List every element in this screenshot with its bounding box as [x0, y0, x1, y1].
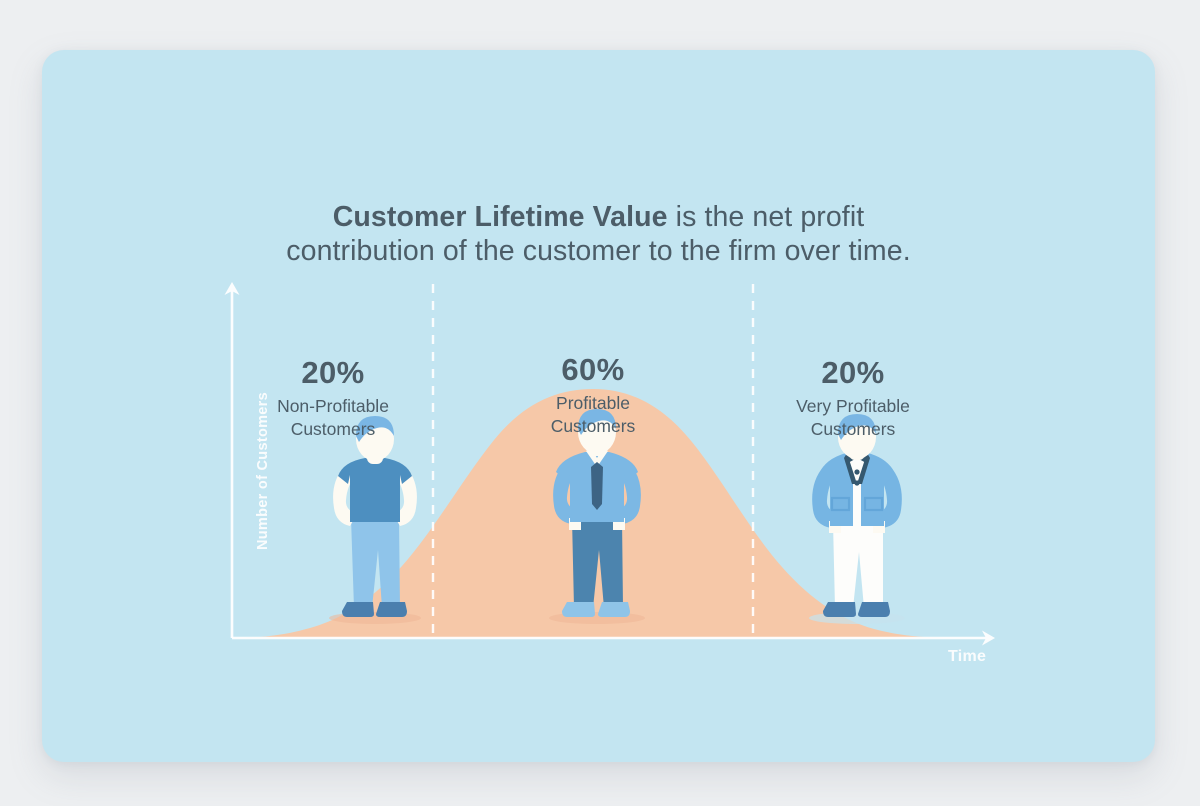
segment-very-profitable: 20% Very Profitable Customers: [738, 356, 968, 440]
tux-button-2: [854, 480, 859, 485]
segment-description-line-2: Customers: [218, 418, 448, 441]
segment-description-line-2: Customers: [478, 415, 708, 438]
segment-profitable: 60% Profitable Customers: [478, 353, 708, 437]
segment-description: Profitable Customers: [478, 392, 708, 437]
segment-description-line-1: Non-Profitable: [218, 395, 448, 418]
left-shoe: [823, 602, 856, 617]
tie: [591, 462, 603, 510]
segment-description-line-1: Very Profitable: [738, 395, 968, 418]
segment-non-profitable: 20% Non-Profitable Customers: [218, 356, 448, 440]
segment-description: Non-Profitable Customers: [218, 395, 448, 440]
segment-percentage: 60%: [478, 353, 708, 387]
left-shoe: [342, 602, 374, 617]
segment-description-line-2: Customers: [738, 418, 968, 441]
right-shoe: [858, 602, 890, 617]
tux-button-1: [854, 469, 859, 474]
segment-description-line-1: Profitable: [478, 392, 708, 415]
white-trousers: [833, 522, 883, 608]
right-shoe: [598, 602, 630, 617]
left-shoe: [562, 602, 595, 617]
y-axis-label: Number of Customers: [255, 392, 271, 550]
segment-percentage: 20%: [218, 356, 448, 390]
segment-percentage: 20%: [738, 356, 968, 390]
page-root: Customer Lifetime Value is the net profi…: [0, 0, 1200, 806]
y-axis: [225, 282, 240, 638]
right-shoe: [376, 602, 407, 617]
tuxedo-customer-figure: [809, 414, 905, 624]
segment-description: Very Profitable Customers: [738, 395, 968, 440]
x-axis-label: Time: [948, 648, 986, 666]
infographic-card: Customer Lifetime Value is the net profi…: [42, 50, 1155, 762]
